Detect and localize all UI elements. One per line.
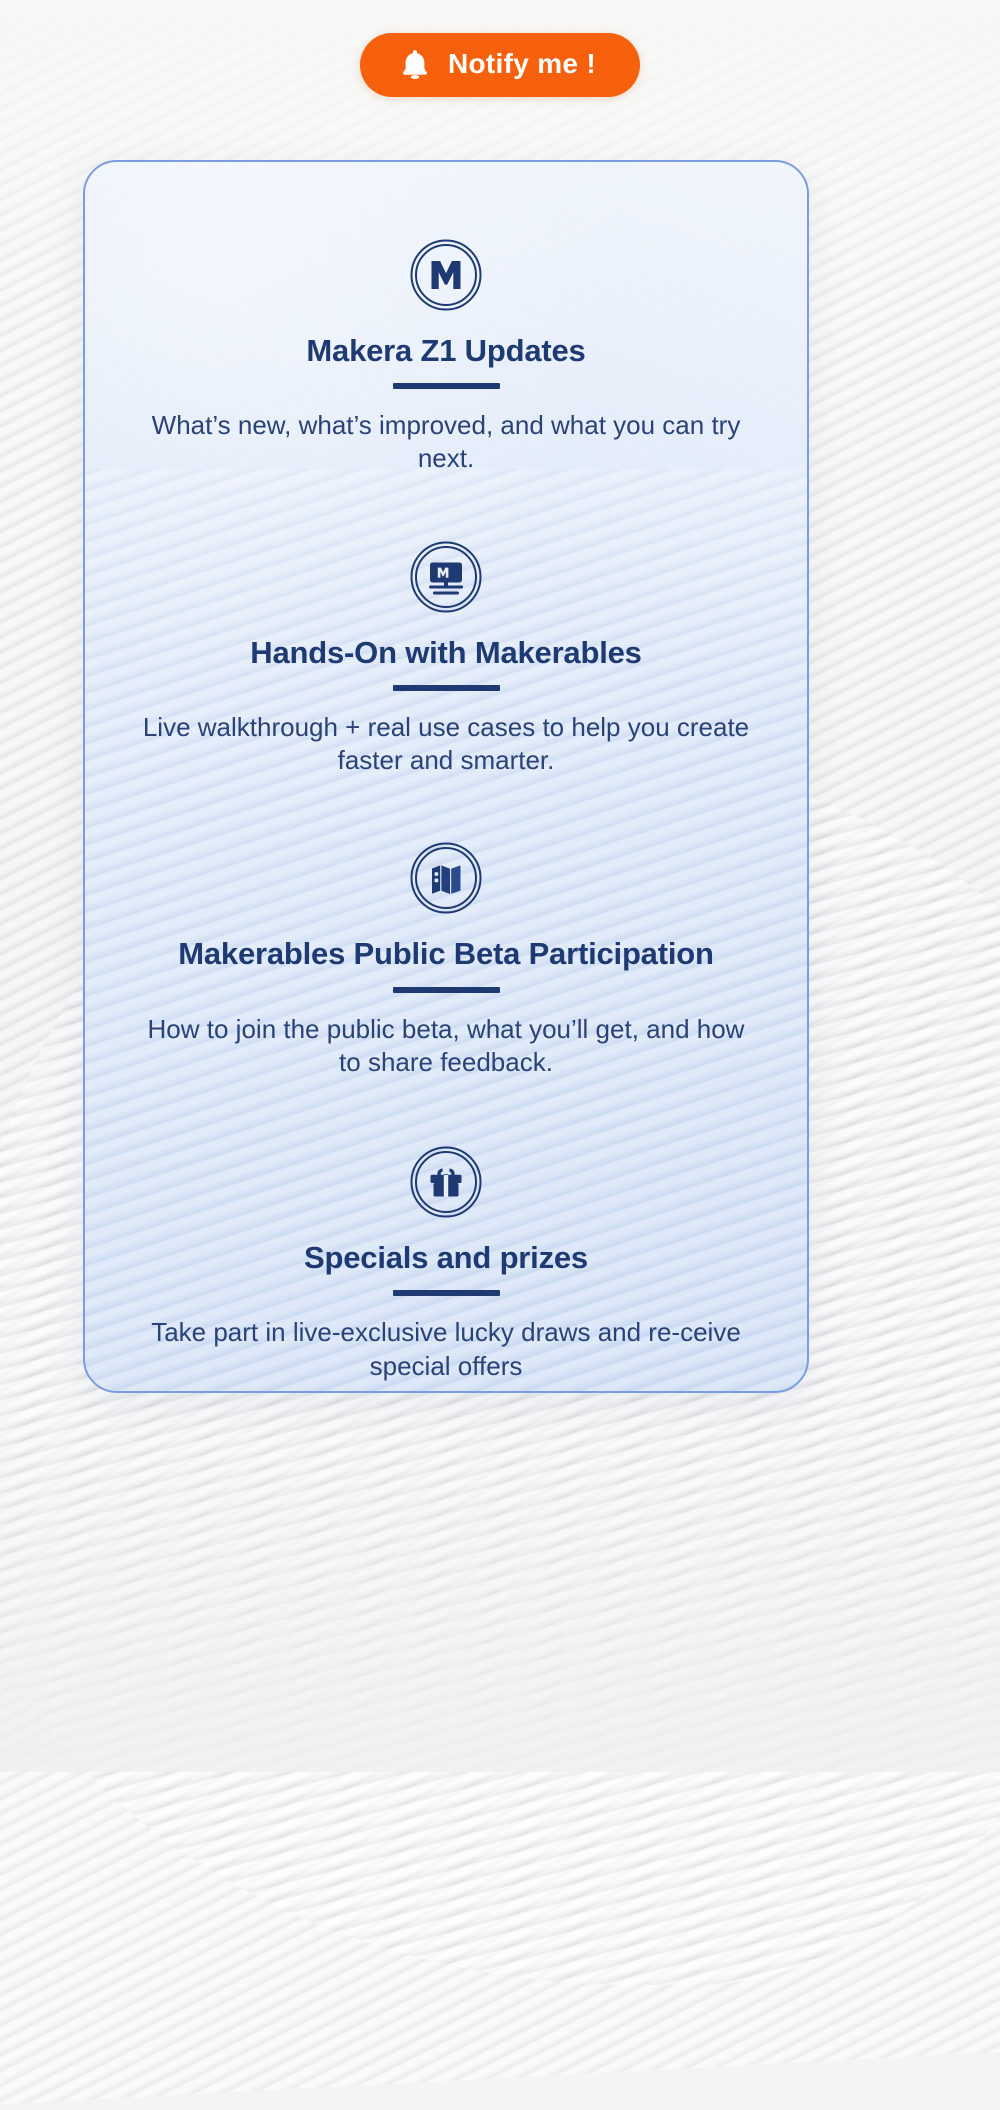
section-title: Hands-On with Makerables — [115, 634, 777, 671]
section-body: What’s new, what’s improved, and what yo… — [141, 409, 751, 476]
section-hands-on-with-makerables: Hands-On with Makerables Live walkthroug… — [115, 540, 777, 778]
section-divider — [393, 685, 500, 691]
announcement-card: Makera Z1 Updates What’s new, what’s imp… — [83, 160, 809, 1393]
section-divider — [393, 1290, 500, 1296]
section-body: Take part in live-exclusive lucky draws … — [141, 1316, 751, 1383]
section-title: Specials and prizes — [115, 1239, 777, 1276]
makera-logo-icon — [409, 238, 483, 312]
spacer — [115, 785, 777, 841]
section-body: Live walkthrough + real use cases to hel… — [141, 711, 751, 778]
notify-me-button[interactable]: Notify me ! — [360, 33, 640, 97]
map-icon — [409, 841, 483, 915]
section-divider — [393, 987, 500, 993]
card-content: Makera Z1 Updates What’s new, what’s imp… — [85, 162, 807, 1383]
spacer — [115, 484, 777, 540]
section-body: How to join the public beta, what you’ll… — [141, 1013, 751, 1080]
notify-button-label: Notify me ! — [448, 50, 596, 78]
section-makera-z1-updates: Makera Z1 Updates What’s new, what’s imp… — [115, 238, 777, 476]
section-title: Makera Z1 Updates — [115, 332, 777, 369]
background-bottom-fade — [0, 1412, 1000, 1772]
notify-button-container: Notify me ! — [0, 33, 1000, 97]
section-specials-and-prizes: Specials and prizes Take part in live-ex… — [115, 1145, 777, 1383]
gift-icon — [409, 1145, 483, 1219]
spacer — [115, 1087, 777, 1145]
bell-icon — [400, 48, 430, 80]
section-title: Makerables Public Beta Participation — [115, 935, 777, 972]
section-divider — [393, 383, 500, 389]
section-makerables-public-beta: Makerables Public Beta Participation How… — [115, 841, 777, 1079]
monitor-m-icon — [409, 540, 483, 614]
